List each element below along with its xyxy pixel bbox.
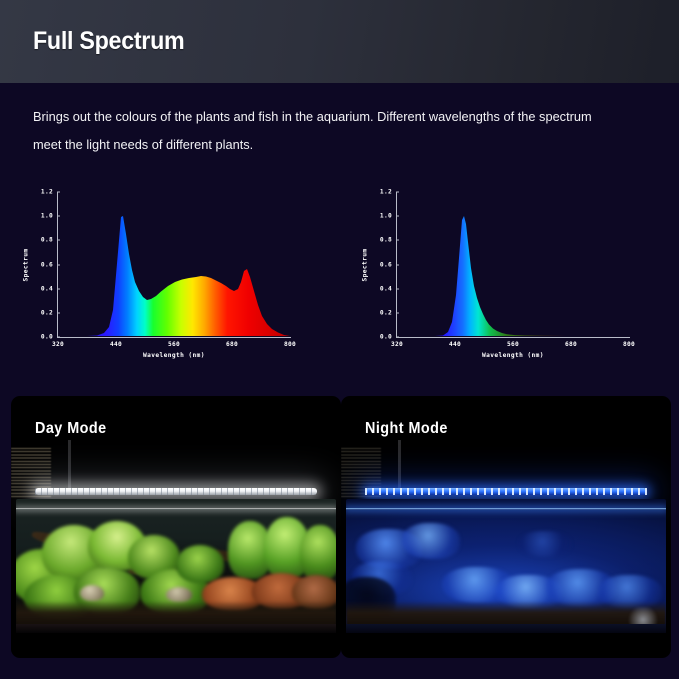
mode-preview-cards: Day Mode	[0, 396, 679, 662]
full-spectrum-curve	[58, 194, 290, 336]
x-axis-label: Wavelength (nm)	[482, 352, 544, 359]
water-surface-line	[16, 508, 336, 510]
blue-spectrum-curve	[397, 194, 629, 336]
white-led-bar	[35, 488, 317, 495]
full-spectrum-chart: Spectrum Wavelength (nm) 0.0 0.2 0.4	[0, 182, 340, 378]
aquascape-silhouettes	[346, 519, 666, 627]
aquarium-tank	[16, 499, 336, 627]
product-feature-page: Full Spectrum Brings out the colours of …	[0, 0, 679, 679]
water-surface-line	[346, 508, 666, 510]
lamp-stand	[68, 440, 71, 488]
x-axis-line	[396, 337, 630, 338]
full-spectrum-plot-area	[58, 194, 290, 336]
tank-base	[16, 624, 336, 633]
night-mode-card[interactable]: Night Mode	[341, 396, 671, 658]
blue-spectrum-chart: Spectrum Wavelength (nm) 0.0 0.2 0.4 0.6	[339, 182, 679, 378]
y-axis-label: Spectrum	[362, 248, 369, 281]
aquatic-plants	[16, 519, 336, 627]
page-header: Full Spectrum	[0, 0, 679, 83]
page-title: Full Spectrum	[33, 27, 184, 56]
lamp-stand	[398, 440, 401, 488]
blue-spectrum-plot-area	[397, 194, 629, 336]
aquarium-tank	[346, 499, 666, 627]
night-mode-label: Night Mode	[365, 420, 448, 438]
x-axis-label: Wavelength (nm)	[143, 352, 205, 359]
day-mode-card[interactable]: Day Mode	[11, 396, 341, 658]
day-mode-label: Day Mode	[35, 420, 107, 438]
y-axis-label: Spectrum	[23, 248, 30, 281]
spectrum-charts: Spectrum Wavelength (nm) 0.0 0.2 0.4	[0, 182, 679, 378]
x-axis-line	[57, 337, 291, 338]
intro-paragraph: Brings out the colours of the plants and…	[33, 103, 615, 159]
tank-base	[346, 624, 666, 633]
blue-led-bar	[365, 488, 647, 495]
